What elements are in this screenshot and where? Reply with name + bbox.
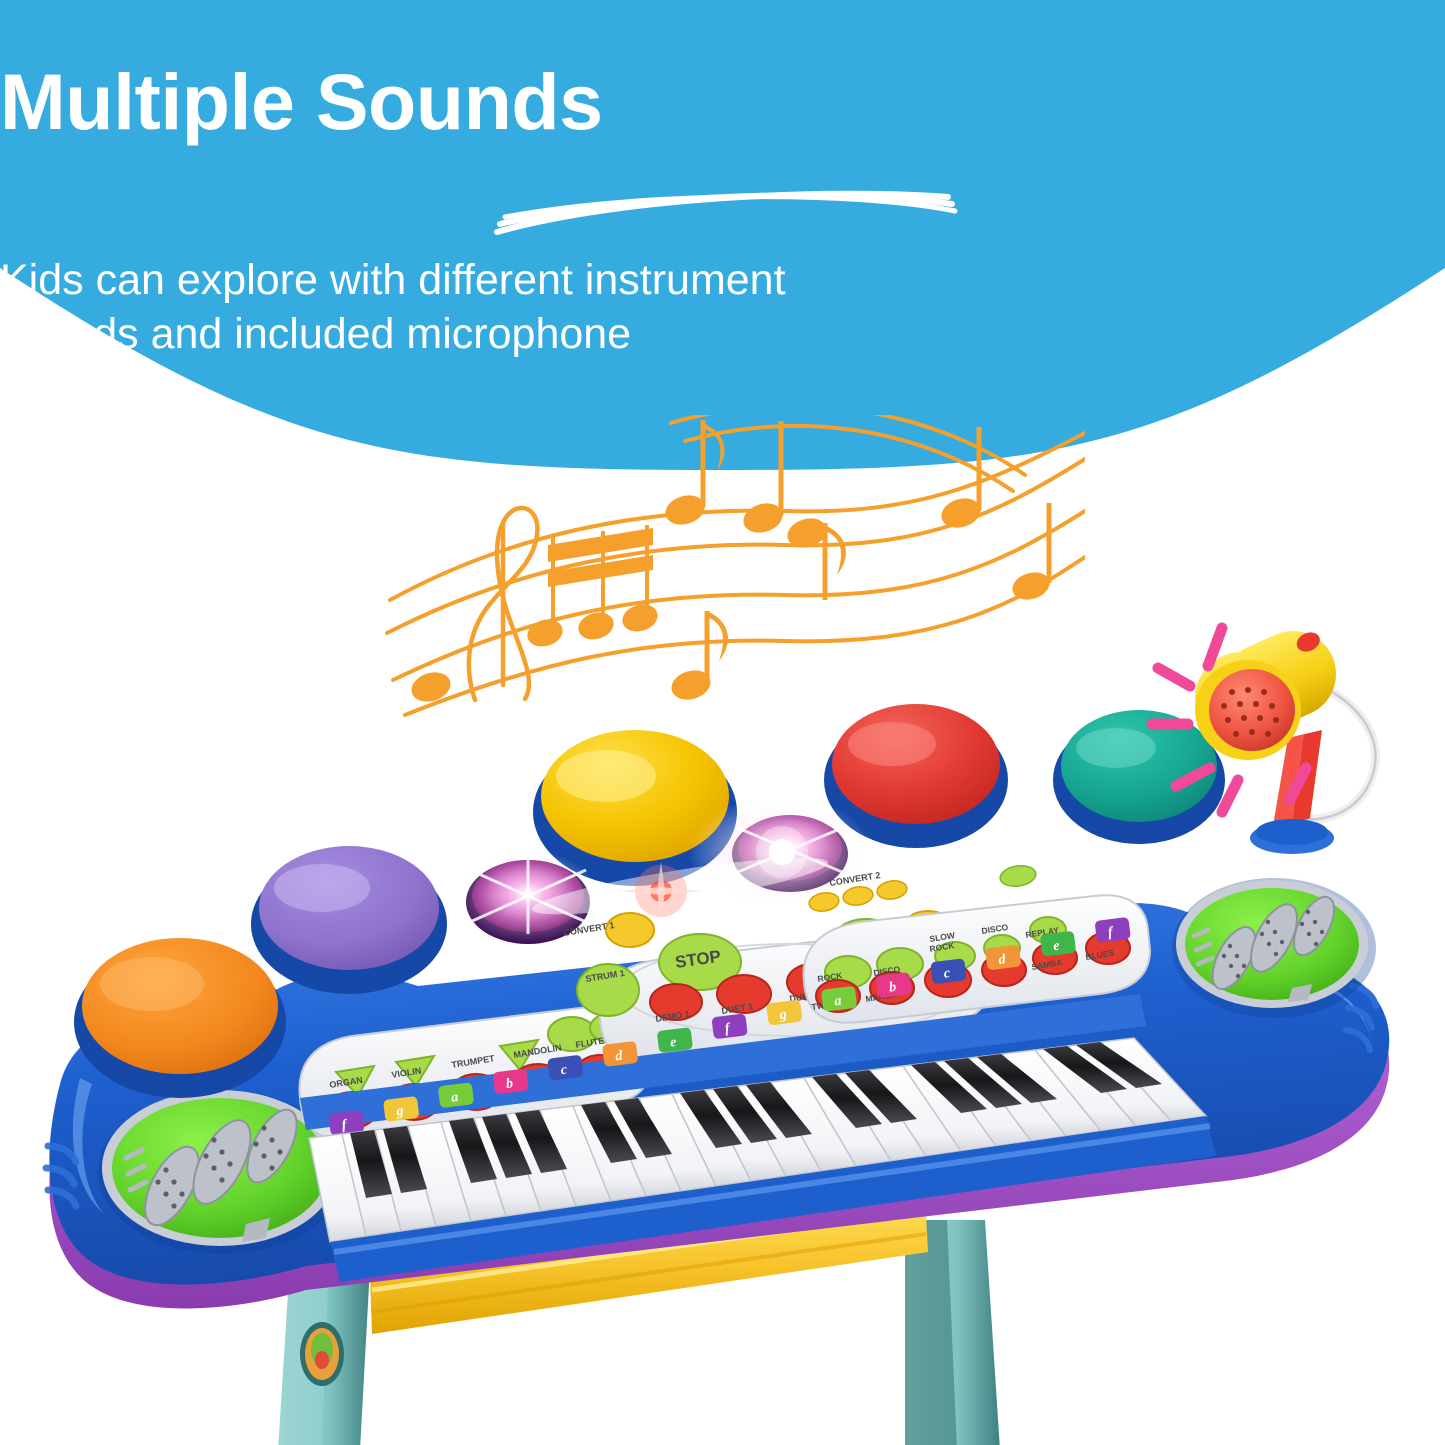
page-subtitle: Kids can explore with different instrume… <box>0 253 1445 361</box>
speaker-right <box>1172 878 1376 1018</box>
drum-pad-purple[interactable] <box>251 846 447 994</box>
drum-pad-orange[interactable] <box>74 938 286 1098</box>
header-banner: Multiple Sounds Kids can explore with di… <box>0 0 1445 470</box>
swoosh-divider <box>0 180 1445 240</box>
keyboard-toy-photo: ORGAN VIOLIN TRUMPET MANDOLIN FLUTE STOP <box>0 590 1445 1445</box>
page-subtitle-line2: sounds and included microphone <box>0 307 1445 361</box>
page-subtitle-line1: Kids can explore with different instrume… <box>0 253 1445 307</box>
page-root: Multiple Sounds Kids can explore with di… <box>0 0 1445 1445</box>
page-title: Multiple Sounds <box>0 62 1445 141</box>
